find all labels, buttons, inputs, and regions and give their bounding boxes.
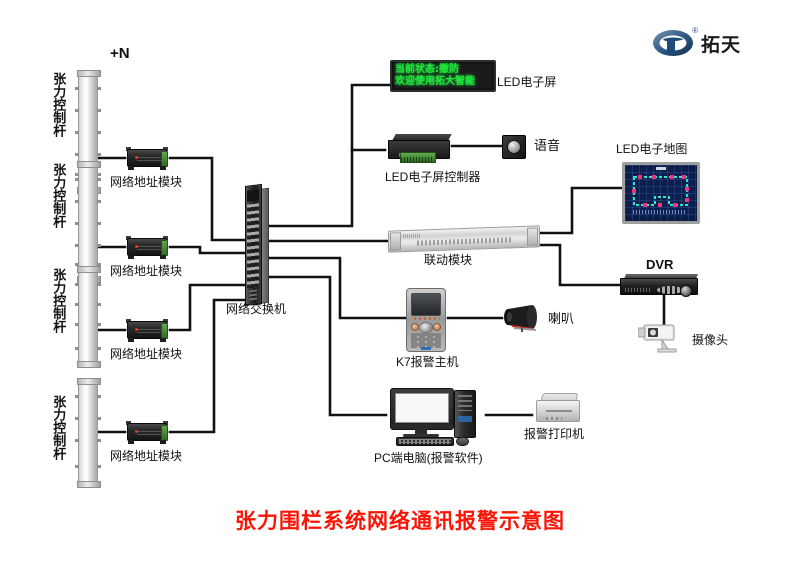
module-label-3: 网络地址模块 (110, 348, 182, 361)
led-screen-line2: 欢迎使用拓大智能 (395, 76, 491, 88)
module-label-1: 网络地址模块 (110, 176, 182, 189)
switch-label: 网络交换机 (226, 303, 286, 316)
printer-label: 报警打印机 (524, 428, 584, 441)
network-address-module-2 (125, 236, 169, 258)
k7-label: K7报警主机 (396, 356, 459, 369)
pole-label-1: 张力控制杆 (52, 72, 65, 137)
brand-name: 拓天 (701, 30, 741, 57)
tension-pole-2 (78, 163, 98, 281)
led-controller-icon (388, 134, 452, 160)
desktop-computer-icon (390, 388, 486, 444)
plus-n-label: +N (110, 45, 130, 62)
network-address-module-4 (125, 421, 169, 443)
registered-mark: ® (692, 26, 698, 35)
tuotian-t-ellipse-logo-icon: ® (652, 28, 696, 58)
led-controller-label: LED电子屏控制器 (385, 171, 480, 184)
diagram-title: 张力围栏系统网络通讯报警示意图 (0, 505, 800, 535)
pole-label-4: 张力控制杆 (52, 395, 65, 460)
pole-label-3: 张力控制杆 (52, 268, 65, 333)
printer-icon (536, 392, 580, 422)
network-switch-icon (245, 186, 267, 304)
module-label-2: 网络地址模块 (110, 265, 182, 278)
led-map-label: LED电子地图 (616, 143, 687, 156)
linkage-module-icon (388, 225, 540, 252)
tension-pole-3 (78, 268, 98, 366)
tension-pole-4 (78, 380, 98, 486)
network-address-module-3 (125, 319, 169, 341)
network-diagram-canvas: ® 拓天 +N 张力控制杆 网络地址模块 张力控制杆 网络地址模块 张力控制杆 (0, 0, 800, 579)
horn-speaker-icon (502, 305, 548, 333)
led-screen-icon: 当前状态:撤防 欢迎使用拓大智能 (390, 60, 496, 92)
horn-label: 喇叭 (548, 312, 574, 326)
voice-label: 语音 (534, 139, 560, 153)
pole-label-2: 张力控制杆 (52, 163, 65, 228)
network-address-module-1 (125, 147, 169, 169)
camera-icon (638, 322, 690, 356)
dvr-icon (620, 274, 698, 296)
led-screen-label: LED电子屏 (497, 76, 556, 89)
voice-speaker-icon (502, 135, 526, 159)
pc-label: PC端电脑(报警软件) (374, 452, 483, 465)
k7-alarm-host-icon (406, 288, 446, 352)
led-map-icon (622, 162, 700, 224)
led-screen-line1: 当前状态:撤防 (395, 64, 491, 76)
brand-logo: ® 拓天 (652, 28, 741, 58)
linkage-module-label: 联动模块 (424, 254, 472, 267)
camera-label: 摄像头 (692, 334, 728, 347)
module-label-4: 网络地址模块 (110, 450, 182, 463)
dvr-label: DVR (646, 258, 673, 272)
